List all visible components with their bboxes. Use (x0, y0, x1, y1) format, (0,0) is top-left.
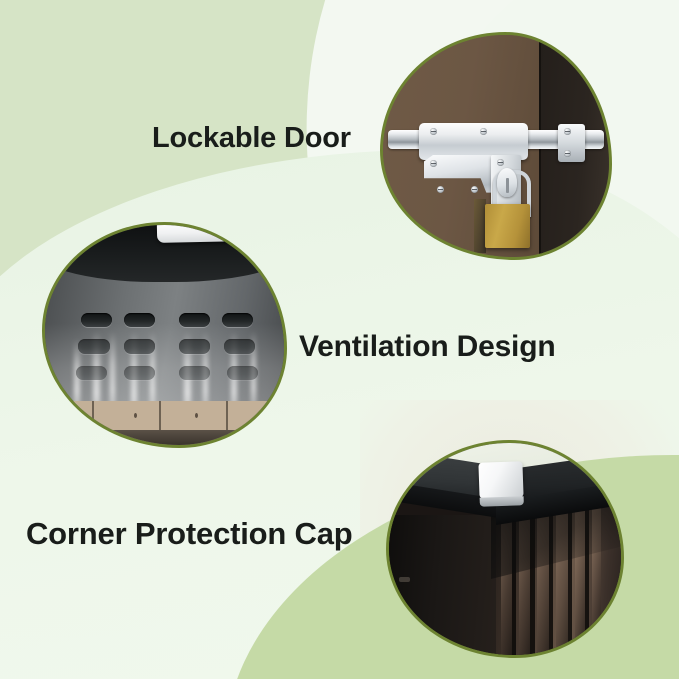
feature-label-lockable-door: Lockable Door (152, 122, 351, 155)
panel-fastener (74, 413, 77, 418)
feature-label-ventilation-design: Ventilation Design (299, 330, 555, 364)
screw-head-icon (564, 128, 571, 135)
shed-wall-left (386, 515, 500, 658)
shed-wall-surface (45, 260, 284, 410)
vent-slot-icon (179, 366, 210, 380)
vent-slot-icon (124, 366, 155, 380)
panel-fastener (195, 413, 198, 418)
vent-slot-icon (124, 313, 155, 327)
vent-slot-icon (124, 339, 155, 353)
vent-slot-icon (76, 366, 107, 380)
feature-image-ventilation-design (42, 222, 287, 448)
feature-label-corner-protection-cap: Corner Protection Cap (26, 516, 353, 552)
vent-slot-icon (179, 313, 210, 327)
roof-corner-cap (157, 222, 243, 242)
vent-slot-icon (224, 339, 255, 353)
vent-slot-icon (179, 339, 210, 353)
vent-slot-icon (81, 313, 112, 327)
vent-slot-icon (227, 366, 258, 380)
corner-protection-cap (479, 461, 524, 499)
feature-image-lockable-door (380, 32, 612, 260)
padlock-icon (485, 204, 530, 248)
wall-vent-mark (399, 577, 410, 581)
panel-fastener (134, 413, 137, 418)
padlock-key (497, 168, 517, 197)
product-feature-infographic: Lockable Door (0, 0, 679, 679)
vent-slot-icon (222, 313, 253, 327)
bolt-keeper-bracket (558, 124, 585, 162)
vent-slot-icon (78, 339, 109, 353)
feature-image-corner-protection-cap (386, 440, 624, 658)
shed-base-shadow (42, 430, 287, 445)
